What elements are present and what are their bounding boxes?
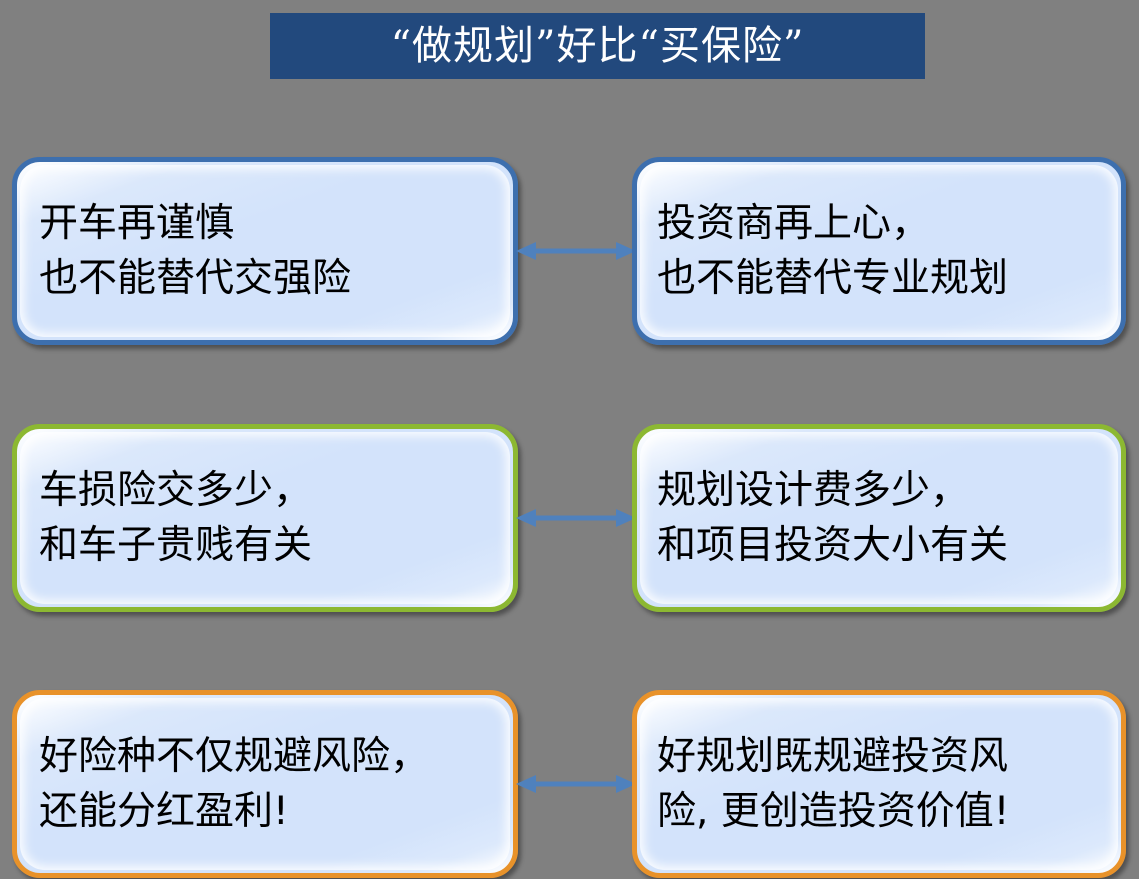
row1-right-box[interactable]: 投资商再上心， 也不能替代专业规划 (632, 157, 1126, 345)
row3-left-box[interactable]: 好险种不仅规避风险， 还能分红盈利! (12, 690, 518, 878)
comparison-row-2: 车损险交多少， 和车子贵贱有关 规划设计费多少， 和项目投资大小有关 (0, 424, 1139, 612)
row3-right-text: 好规划既规避投资风 险, 更创造投资价值! (637, 729, 1009, 840)
row1-left-text: 开车再谨慎 也不能替代交强险 (17, 196, 351, 307)
comparison-row-3: 好险种不仅规避风险， 还能分红盈利! 好规划既规避投资风 险, 更创造投资价值! (0, 690, 1139, 878)
row3-double-headed-arrow-icon (516, 770, 636, 798)
title-banner: “做规划”好比“买保险” (270, 13, 925, 79)
row1-left-box[interactable]: 开车再谨慎 也不能替代交强险 (12, 157, 518, 345)
row2-left-box[interactable]: 车损险交多少， 和车子贵贱有关 (12, 424, 518, 612)
page-title: “做规划”好比“买保险” (391, 26, 805, 66)
row3-right-box[interactable]: 好规划既规避投资风 险, 更创造投资价值! (632, 690, 1126, 878)
row1-right-text: 投资商再上心， 也不能替代专业规划 (637, 196, 1008, 307)
comparison-row-1: 开车再谨慎 也不能替代交强险 投资商再上心， 也不能替代专业规划 (0, 157, 1139, 345)
row2-right-box[interactable]: 规划设计费多少， 和项目投资大小有关 (632, 424, 1126, 612)
row2-double-headed-arrow-icon (516, 504, 636, 532)
row1-double-headed-arrow-icon (516, 237, 636, 265)
row2-left-text: 车损险交多少， 和车子贵贱有关 (17, 463, 312, 574)
row2-right-text: 规划设计费多少， 和项目投资大小有关 (637, 463, 1008, 574)
row3-left-text: 好险种不仅规避风险， 还能分红盈利! (17, 729, 429, 840)
